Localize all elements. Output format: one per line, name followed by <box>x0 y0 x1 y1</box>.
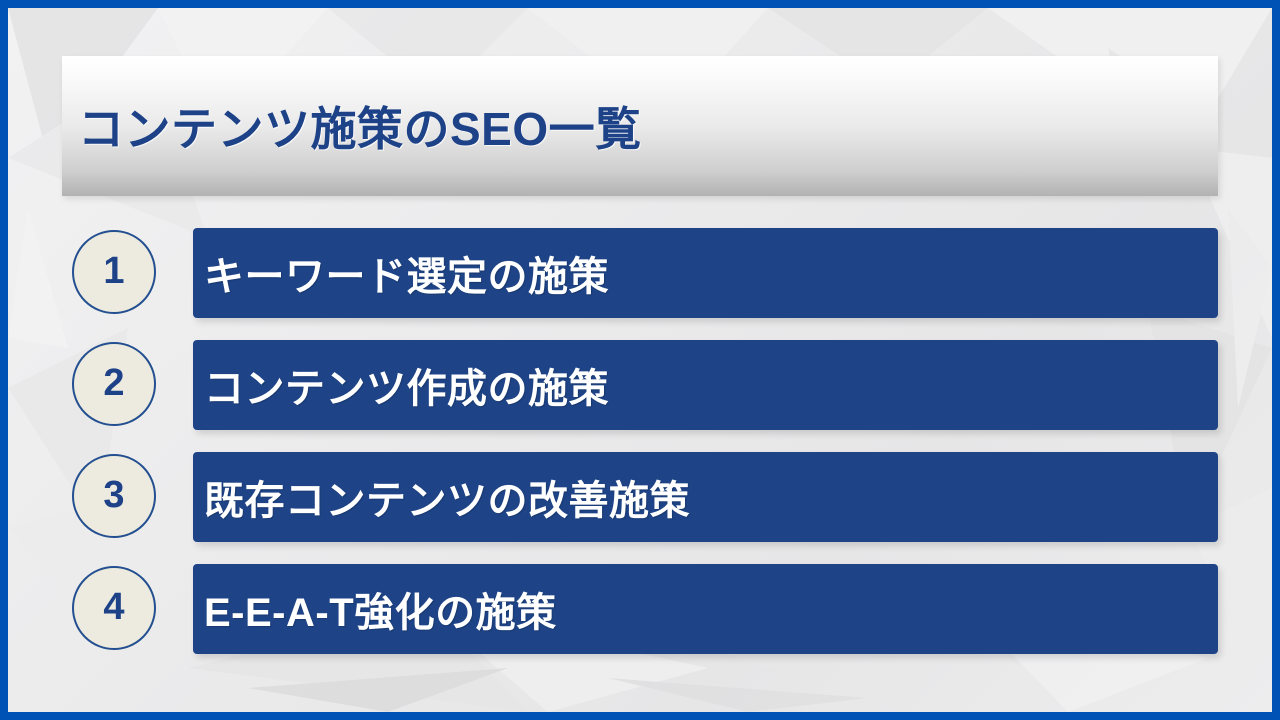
frame-border-bottom <box>0 712 1280 720</box>
list-item-number: 1 <box>103 252 124 292</box>
agenda-list: 1 キーワード選定の施策 2 コンテンツ作成の施策 3 既存コンテンツの改善施策 <box>0 228 1280 676</box>
frame-border-right <box>1272 0 1280 720</box>
list-item-number-badge: 1 <box>72 230 156 314</box>
list-item-bar[interactable]: コンテンツ作成の施策 <box>193 340 1218 430</box>
list-item[interactable]: 1 キーワード選定の施策 <box>0 228 1280 318</box>
list-item-bar[interactable]: E-E-A-T強化の施策 <box>193 564 1218 654</box>
list-item-label: キーワード選定の施策 <box>204 244 609 302</box>
list-item-number: 3 <box>103 476 124 516</box>
list-item-label: コンテンツ作成の施策 <box>204 356 609 414</box>
list-item-label: E-E-A-T強化の施策 <box>204 580 557 638</box>
list-item-bar[interactable]: 既存コンテンツの改善施策 <box>193 452 1218 542</box>
list-item-number-badge: 4 <box>72 566 156 650</box>
list-item-number: 4 <box>103 588 124 628</box>
list-item-number-badge: 2 <box>72 342 156 426</box>
list-item-bar[interactable]: キーワード選定の施策 <box>193 228 1218 318</box>
list-item[interactable]: 4 E-E-A-T強化の施策 <box>0 564 1280 654</box>
list-item[interactable]: 2 コンテンツ作成の施策 <box>0 340 1280 430</box>
page-title: コンテンツ施策のSEO一覧 <box>78 56 642 196</box>
list-item[interactable]: 3 既存コンテンツの改善施策 <box>0 452 1280 542</box>
list-item-number-badge: 3 <box>72 454 156 538</box>
frame-border-top <box>0 0 1280 8</box>
list-item-label: 既存コンテンツの改善施策 <box>204 468 690 526</box>
frame-border-left <box>0 0 8 720</box>
list-item-number: 2 <box>103 364 124 404</box>
slide-canvas: コンテンツ施策のSEO一覧 1 キーワード選定の施策 2 コンテンツ作成の施策 … <box>0 0 1280 720</box>
